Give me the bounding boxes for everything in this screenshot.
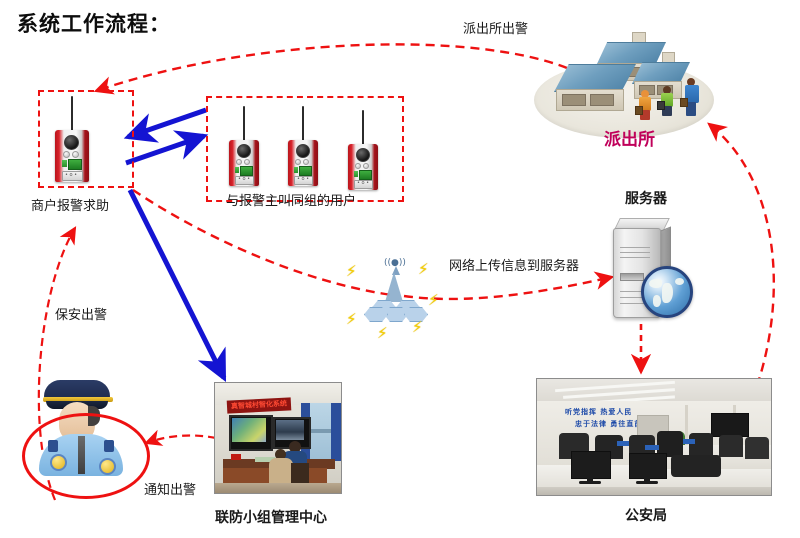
wall-tv [711, 413, 749, 437]
status-led [68, 159, 82, 170]
flow-station-to-merchant [96, 44, 567, 91]
globe-icon [641, 266, 693, 318]
tower-mast-icon [385, 272, 403, 302]
flow-merchant-to-center [130, 190, 224, 378]
flow-center-to-officer [146, 435, 216, 443]
server-label: 服务器 [625, 188, 667, 208]
status-led [299, 166, 312, 176]
flow-group-to-merchant [128, 110, 206, 137]
joint-defense-center-caption: 联防小组管理中心 [215, 507, 327, 527]
merchant-alarm-label: 商户报警求助 [31, 195, 109, 214]
keypad[interactable]: • o • [62, 171, 83, 181]
group-users-label: 与报警主叫同组的用户 [226, 190, 356, 209]
joint-defense-center-photo[interactable]: 真智城村智化系统 [214, 382, 342, 494]
dispatch-from-station-label: 派出所出警 [463, 18, 528, 37]
led-banner: 真智城村智化系统 [227, 397, 292, 413]
flow-bureau-to-station [709, 124, 774, 400]
police-station-label: 派出所 [604, 125, 655, 150]
public-security-bureau-photo[interactable]: 听党指挥 热爱人民 忠于法律 勇往直前 [536, 378, 772, 496]
person-figure [660, 86, 674, 116]
status-led [359, 170, 372, 180]
officer-highlight-circle [22, 413, 150, 499]
status-led [240, 166, 253, 176]
wireless-tower[interactable]: ((●)) [368, 262, 422, 318]
page-title: 系统工作流程： [17, 8, 171, 38]
police-station-illustration[interactable] [534, 30, 714, 140]
keypad[interactable]: • o • [235, 176, 254, 185]
public-security-bureau-caption: 公安局 [625, 505, 667, 525]
person-figure [638, 90, 652, 120]
speaker-icon [237, 144, 251, 158]
group-user-device-2[interactable]: • o • [288, 106, 318, 186]
speaker-icon [64, 135, 79, 150]
speaker-icon [356, 148, 370, 162]
keypad[interactable]: • o • [354, 180, 373, 189]
notify-dispatch-label: 通知出警 [144, 479, 196, 498]
server-node[interactable] [613, 218, 671, 318]
keypad[interactable]: • o • [294, 176, 313, 185]
desk-monitor [571, 451, 611, 479]
network-upload-label: 网络上传信息到服务器 [449, 255, 579, 274]
group-user-device-3[interactable]: • o • [348, 110, 378, 190]
merchant-alarm-device[interactable]: • o • [55, 96, 89, 182]
diagram-canvas: 系统工作流程： [0, 0, 800, 538]
security-dispatch-label: 保安出警 [55, 304, 107, 323]
group-user-device-1[interactable]: • o • [229, 106, 259, 186]
flow-merchant-to-group [126, 136, 204, 163]
person-figure [684, 78, 700, 116]
speaker-icon [296, 144, 310, 158]
